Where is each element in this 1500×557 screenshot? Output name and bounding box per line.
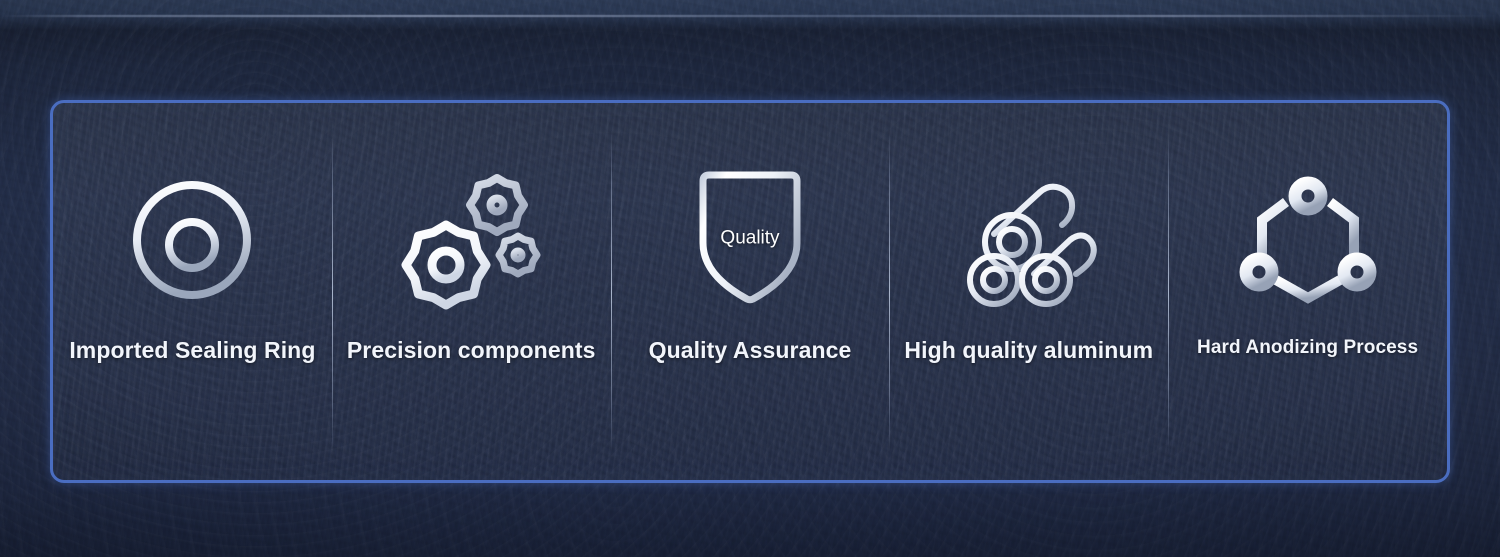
aluminum-tubes-icon xyxy=(954,165,1104,315)
feature-label: High quality aluminum xyxy=(904,337,1153,364)
feature-label: Precision components xyxy=(347,337,596,364)
feature-label: Quality Assurance xyxy=(649,337,852,364)
sealing-ring-icon xyxy=(129,165,255,315)
gears-icon xyxy=(396,165,546,315)
feature-item-imported-sealing-ring[interactable]: Imported Sealing Ring xyxy=(53,103,332,480)
feature-banner: Imported Sealing Ring xyxy=(0,0,1500,557)
molecule-hexagon-icon xyxy=(1242,165,1374,315)
feature-label: Imported Sealing Ring xyxy=(69,337,315,364)
feature-label: Hard Anodizing Process xyxy=(1197,337,1418,359)
top-edge-seam xyxy=(0,15,1500,17)
features-panel: Imported Sealing Ring xyxy=(50,100,1450,483)
feature-item-quality-assurance[interactable]: Quality Quality Assurance xyxy=(611,103,890,480)
shield-icon: Quality xyxy=(695,165,805,315)
feature-item-high-quality-aluminum[interactable]: High quality aluminum xyxy=(889,103,1168,480)
feature-item-hard-anodizing-process[interactable]: Hard Anodizing Process xyxy=(1168,103,1447,480)
feature-item-precision-components[interactable]: Precision components xyxy=(332,103,611,480)
